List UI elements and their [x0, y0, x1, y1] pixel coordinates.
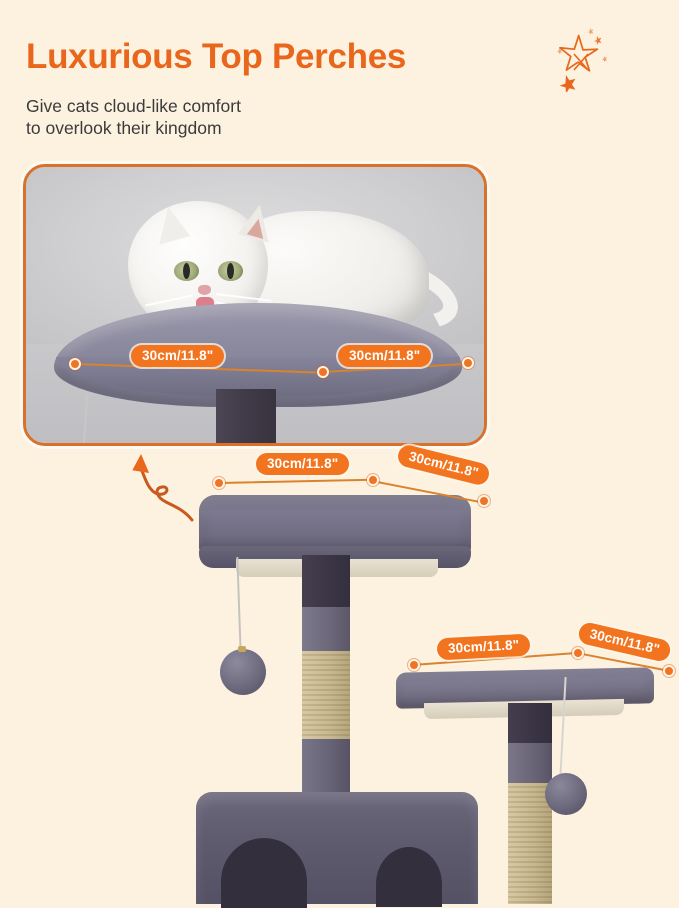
- middle-post-sisal: [302, 651, 350, 743]
- cat-tree-illustration: 30cm/11.8" 30cm/11.8" 30cm/11.8" 30cm/11…: [0, 455, 679, 849]
- page-title: Luxurious Top Perches: [26, 37, 406, 77]
- cat-nose: [198, 285, 211, 295]
- star-sparkle-icon: [552, 26, 612, 92]
- right-perch-toy-ball: [545, 773, 587, 815]
- middle-perch-toy-ball: [220, 649, 266, 695]
- dimension-midpoint-dot: [317, 366, 329, 378]
- photo-support-post: [216, 389, 276, 446]
- toy-ball-cap: [238, 646, 246, 652]
- cat-eye-left: [174, 261, 199, 281]
- dimension-endpoint-dot: [408, 659, 420, 671]
- cat-eye-right: [218, 261, 243, 281]
- dimension-midpoint-dot: [367, 474, 379, 486]
- dimension-endpoint-dot: [213, 477, 225, 489]
- page-subtitle: Give cats cloud-like comfort to overlook…: [26, 95, 241, 139]
- dimension-endpoint-dot: [478, 495, 490, 507]
- cat-whisker: [145, 295, 192, 307]
- cat-on-top-perch-photo: 30cm/11.8" 30cm/11.8": [23, 164, 487, 446]
- dimension-badge: 30cm/11.8": [396, 443, 492, 487]
- dimension-line: [218, 479, 373, 484]
- photo-inner: 30cm/11.8" 30cm/11.8": [26, 167, 484, 443]
- product-infographic: Luxurious Top Perches Give cats cloud-li…: [0, 0, 679, 849]
- cat-ear-left: [150, 203, 190, 245]
- right-post-fur: [508, 743, 552, 787]
- middle-post-lower: [302, 739, 350, 797]
- dimension-badge: 30cm/11.8": [338, 345, 431, 367]
- dimension-badge: 30cm/11.8": [256, 453, 349, 475]
- dimension-endpoint-dot: [462, 357, 474, 369]
- dimension-badge: 30cm/11.8": [131, 345, 224, 367]
- dimension-midpoint-dot: [572, 647, 584, 659]
- dimension-endpoint-dot: [663, 665, 675, 677]
- dimension-endpoint-dot: [69, 358, 81, 370]
